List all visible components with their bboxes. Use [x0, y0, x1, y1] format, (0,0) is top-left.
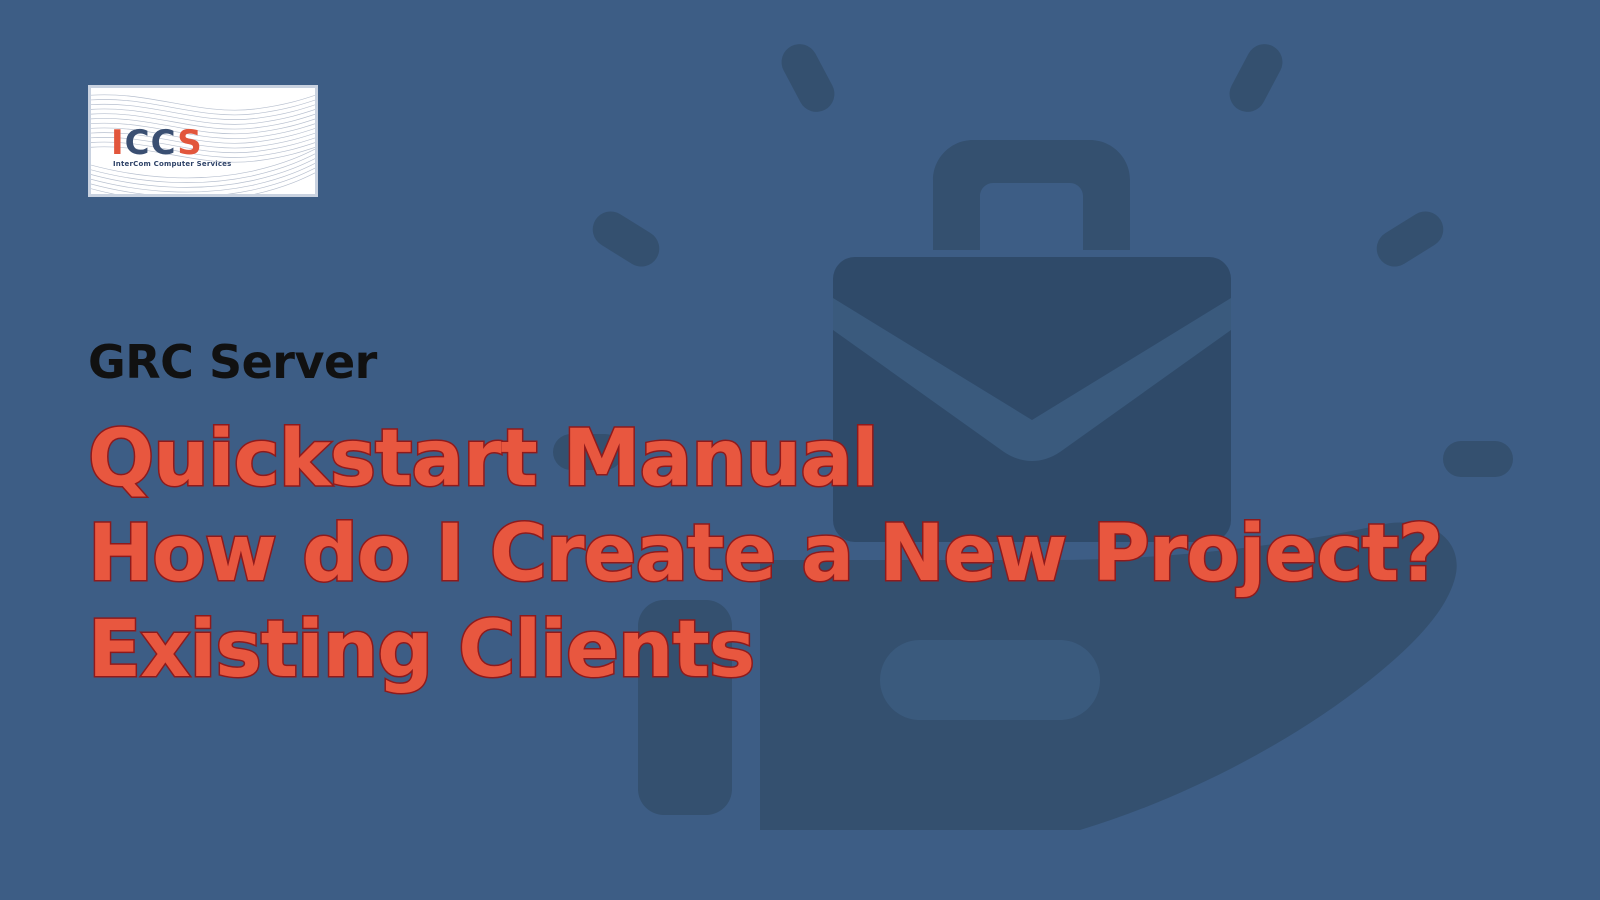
headline: Quickstart Manual How do I Create a New … — [88, 412, 1468, 697]
product-name: GRC Server — [88, 338, 1468, 386]
dash-top-right — [1223, 38, 1289, 118]
dash-top-left — [775, 38, 841, 118]
logo-letter-i: I — [111, 123, 125, 163]
headline-line-3: Existing Clients — [88, 603, 1468, 698]
title-block: GRC Server Quickstart Manual How do I Cr… — [88, 338, 1468, 698]
logo-tagline: InterCom Computer Services — [113, 160, 232, 168]
logo-wordmark: ICCS — [111, 126, 203, 160]
headline-line-2: How do I Create a New Project? — [88, 507, 1468, 602]
headline-line-1: Quickstart Manual — [88, 412, 1468, 507]
dash-mid-left — [586, 205, 666, 274]
company-logo: ICCS InterCom Computer Services — [88, 85, 318, 197]
logo-letter-c2: C — [151, 123, 178, 163]
logo-letter-s: S — [177, 123, 203, 163]
dash-mid-right — [1370, 205, 1450, 274]
presentation-slide: ICCS InterCom Computer Services GRC Serv… — [0, 0, 1600, 900]
logo-letter-c1: C — [125, 123, 151, 163]
